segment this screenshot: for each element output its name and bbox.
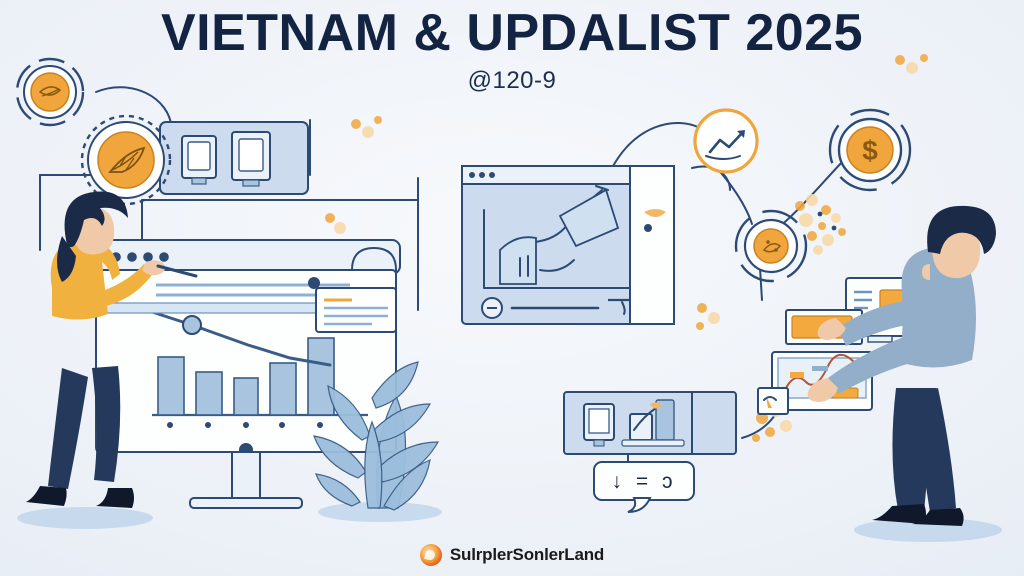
left-group xyxy=(17,59,442,529)
logo-text: SulrplerSonlerLand xyxy=(450,545,604,565)
man-figure xyxy=(808,206,1002,542)
device-summary-panel xyxy=(564,392,736,454)
device-icon-2 xyxy=(232,132,270,186)
coin-badge-mid xyxy=(736,211,806,281)
media-browser-window xyxy=(462,166,674,324)
coin-badge-large xyxy=(82,116,170,204)
device-icon-1 xyxy=(182,136,216,184)
trend-arrow-badge xyxy=(695,110,757,172)
dollar-coin-badge: $ xyxy=(830,110,910,190)
tablet-icon xyxy=(584,404,614,446)
scene-illustration: $ xyxy=(0,0,1024,576)
footer-logo: SulrplerSonlerLand xyxy=(0,544,1024,566)
device-panel xyxy=(160,122,308,194)
logo-icon xyxy=(420,544,442,566)
coin-badge-small xyxy=(17,59,83,125)
svg-text:$: $ xyxy=(862,135,878,166)
formula-bubble-text: ↓ = ɔ xyxy=(594,470,694,494)
illustration-canvas: VIETNAM & UPDALIST 2025 @120-9 xyxy=(0,0,1024,576)
